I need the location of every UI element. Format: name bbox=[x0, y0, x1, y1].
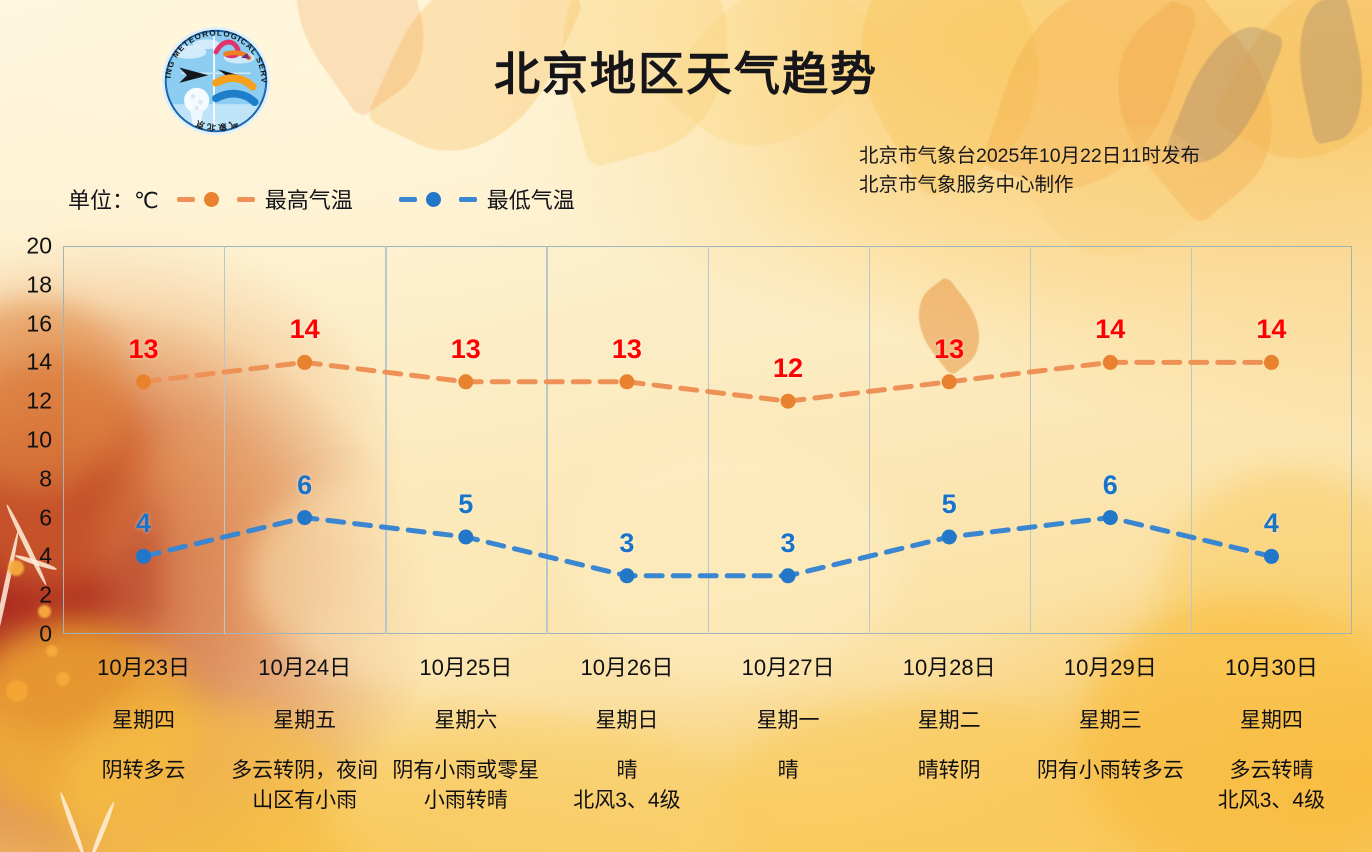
data-point-marker[interactable] bbox=[942, 530, 957, 545]
value-label-high: 13 bbox=[129, 334, 159, 365]
publisher-line-2: 北京市气象服务中心制作 bbox=[859, 171, 1200, 200]
day-weather-description: 阴转多云 bbox=[69, 756, 218, 786]
day-weekday: 星期六 bbox=[391, 704, 540, 734]
day-date: 10月28日 bbox=[875, 650, 1024, 682]
page-title: 北京地区天气趋势 bbox=[0, 38, 1372, 104]
day-weather-description: 多云转阴，夜间山区有小雨 bbox=[230, 756, 379, 816]
data-point-marker[interactable] bbox=[781, 568, 796, 583]
day-weather-description: 多云转晴北风3、4级 bbox=[1197, 756, 1346, 816]
day-date: 10月26日 bbox=[552, 650, 701, 682]
unit-label: 单位：℃ bbox=[68, 183, 159, 215]
day-column[interactable]: 10月29日星期三阴有小雨转多云 bbox=[1030, 640, 1191, 840]
day-weekday: 星期二 bbox=[875, 704, 1024, 734]
day-column[interactable]: 10月28日星期二晴转阴 bbox=[869, 640, 1030, 840]
legend-item-low: 最低气温 bbox=[399, 183, 575, 215]
data-point-marker[interactable] bbox=[619, 568, 634, 583]
legend-marker-high-icon bbox=[177, 192, 255, 206]
day-column[interactable]: 10月27日星期一晴 bbox=[708, 640, 869, 840]
day-weather-description: 晴 bbox=[714, 756, 863, 786]
data-point-marker[interactable] bbox=[297, 510, 312, 525]
day-date: 10月25日 bbox=[391, 650, 540, 682]
value-label-high: 14 bbox=[290, 314, 320, 345]
value-label-low: 6 bbox=[297, 470, 312, 501]
data-point-marker[interactable] bbox=[1103, 510, 1118, 525]
value-label-high: 13 bbox=[934, 334, 964, 365]
day-weekday: 星期四 bbox=[1197, 704, 1346, 734]
data-point-marker[interactable] bbox=[458, 374, 473, 389]
data-point-marker[interactable] bbox=[1264, 355, 1279, 370]
y-axis: 02468101214161820 bbox=[0, 232, 52, 652]
day-weekday: 星期三 bbox=[1036, 704, 1185, 734]
day-weekday: 星期日 bbox=[552, 704, 701, 734]
value-label-high: 12 bbox=[773, 353, 803, 384]
value-label-high: 14 bbox=[1095, 314, 1125, 345]
day-weather-description: 阴有小雨或零星小雨转晴 bbox=[391, 756, 540, 816]
value-label-low: 4 bbox=[136, 508, 151, 539]
day-weekday: 星期四 bbox=[69, 704, 218, 734]
y-axis-tick: 12 bbox=[0, 388, 52, 415]
legend-item-high: 最高气温 bbox=[177, 183, 353, 215]
chart-legend: 单位：℃ 最高气温 最低气温 bbox=[68, 183, 621, 215]
y-axis-tick: 10 bbox=[0, 427, 52, 454]
data-point-marker[interactable] bbox=[136, 374, 151, 389]
day-weekday: 星期五 bbox=[230, 704, 379, 734]
day-column[interactable]: 10月25日星期六阴有小雨或零星小雨转晴 bbox=[385, 640, 546, 840]
y-axis-tick: 6 bbox=[0, 504, 52, 531]
day-weather-description: 晴北风3、4级 bbox=[552, 756, 701, 816]
data-point-marker[interactable] bbox=[1264, 549, 1279, 564]
weather-trend-chart: 131413131213141446533564 bbox=[63, 246, 1352, 634]
y-axis-tick: 16 bbox=[0, 310, 52, 337]
value-label-low: 5 bbox=[458, 489, 473, 520]
value-label-high: 13 bbox=[612, 334, 642, 365]
y-axis-tick: 18 bbox=[0, 271, 52, 298]
day-column[interactable]: 10月23日星期四阴转多云 bbox=[63, 640, 224, 840]
day-weather-description: 阴有小雨转多云 bbox=[1036, 756, 1185, 786]
y-axis-tick: 8 bbox=[0, 465, 52, 492]
day-weekday: 星期一 bbox=[714, 704, 863, 734]
day-date: 10月29日 bbox=[1036, 650, 1185, 682]
value-label-low: 3 bbox=[619, 528, 634, 559]
day-column[interactable]: 10月26日星期日晴北风3、4级 bbox=[546, 640, 707, 840]
day-date: 10月27日 bbox=[714, 650, 863, 682]
data-point-marker[interactable] bbox=[297, 355, 312, 370]
value-label-high: 13 bbox=[451, 334, 481, 365]
value-label-low: 4 bbox=[1264, 508, 1279, 539]
value-label-low: 6 bbox=[1103, 470, 1118, 501]
day-column[interactable]: 10月24日星期五多云转阴，夜间山区有小雨 bbox=[224, 640, 385, 840]
legend-label-low: 最低气温 bbox=[487, 183, 575, 215]
publisher-info: 北京市气象台2025年10月22日11时发布 北京市气象服务中心制作 bbox=[859, 142, 1200, 200]
day-date: 10月24日 bbox=[230, 650, 379, 682]
y-axis-tick: 20 bbox=[0, 233, 52, 260]
y-axis-tick: 4 bbox=[0, 543, 52, 570]
day-date: 10月30日 bbox=[1197, 650, 1346, 682]
legend-marker-low-icon bbox=[399, 192, 477, 206]
value-label-high: 14 bbox=[1256, 314, 1286, 345]
publisher-line-1: 北京市气象台2025年10月22日11时发布 bbox=[859, 142, 1200, 171]
y-axis-tick: 2 bbox=[0, 582, 52, 609]
legend-label-high: 最高气温 bbox=[265, 183, 353, 215]
y-axis-tick: 0 bbox=[0, 621, 52, 648]
value-label-low: 5 bbox=[942, 489, 957, 520]
data-point-marker[interactable] bbox=[1103, 355, 1118, 370]
data-point-marker[interactable] bbox=[458, 530, 473, 545]
y-axis-tick: 14 bbox=[0, 349, 52, 376]
series-line-high bbox=[144, 362, 1272, 401]
series-lines bbox=[63, 246, 1352, 634]
day-date: 10月23日 bbox=[69, 650, 218, 682]
dot-decoration bbox=[6, 680, 28, 702]
data-point-marker[interactable] bbox=[136, 549, 151, 564]
day-weather-description: 晴转阴 bbox=[875, 756, 1024, 786]
data-point-marker[interactable] bbox=[619, 374, 634, 389]
data-point-marker[interactable] bbox=[942, 374, 957, 389]
day-columns: 10月23日星期四阴转多云10月24日星期五多云转阴，夜间山区有小雨10月25日… bbox=[63, 640, 1352, 840]
series-line-low bbox=[144, 518, 1272, 576]
day-column[interactable]: 10月30日星期四多云转晴北风3、4级 bbox=[1191, 640, 1352, 840]
data-point-marker[interactable] bbox=[781, 394, 796, 409]
value-label-low: 3 bbox=[781, 528, 796, 559]
